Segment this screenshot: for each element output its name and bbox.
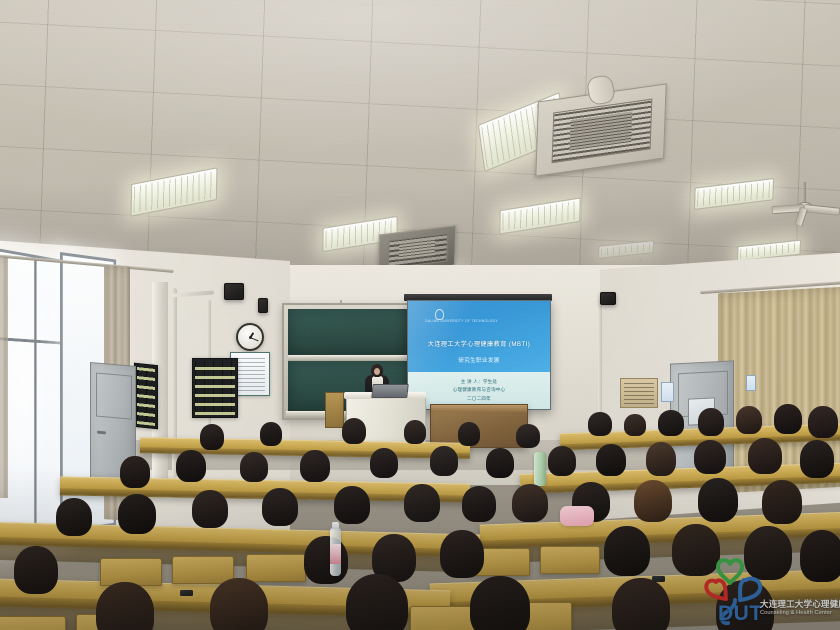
student-hair [672,524,720,576]
student [176,450,206,482]
student-hair [774,404,802,434]
student-hair [744,526,792,580]
wall-speaker-left [224,283,244,300]
podium-laptop [371,384,408,398]
slide-title-line-2: 研究生职业发展 [419,357,538,366]
student [672,524,720,576]
student-hair [694,440,726,474]
student-hair [458,422,480,446]
slide-logo-text: DALIAN UNIVERSITY OF TECHNOLOGY [425,319,451,323]
student-hair [304,536,348,584]
student [694,440,726,474]
student-hair [404,420,426,444]
student [334,486,370,524]
student [596,444,626,476]
slide-meta-line-1: 主 讲 人：学生处 [434,378,525,386]
student [404,420,426,444]
presenter-face [374,368,380,375]
student [304,536,348,584]
student-hair [762,480,802,524]
student-hair [96,582,154,630]
student-hair [56,498,92,536]
student [430,446,458,476]
wall-sign-blue [661,382,674,402]
student-hair [440,530,484,578]
student-hair [548,446,576,476]
seat-back [540,546,600,574]
student [440,530,484,578]
student-hair [624,414,646,436]
student [200,424,224,450]
student-hair [612,578,670,630]
student-hair [516,424,540,448]
student [512,484,548,522]
student-hair [646,442,676,476]
wall-speaker-small [258,298,268,313]
seating-area [0,400,840,630]
student-hair [176,450,206,482]
student [14,546,58,594]
student [516,424,540,448]
clock-center-pin [249,336,252,339]
projection-screen: DALIAN UNIVERSITY OF TECHNOLOGY 大连理工大学心理… [407,300,551,410]
fan-blade [804,204,840,216]
student [744,526,792,580]
student [404,484,440,522]
student-hair [262,488,298,526]
student [260,422,282,446]
student-hair [800,440,834,478]
student [240,452,268,482]
wall-clock [236,323,264,351]
seat-back [0,616,66,630]
thermos-flask [534,452,546,486]
fan-rod [803,182,806,204]
student-hair [808,406,838,438]
student [548,446,576,476]
bottle-label [330,544,341,564]
slide-meta-line-2: 心理健康教育与咨询中心 [434,386,525,394]
student-hair [240,452,268,482]
student-hair [14,546,58,594]
student-hair [346,574,408,630]
student-hair [334,486,370,524]
student-hair [200,424,224,450]
student [800,440,834,478]
student [486,448,514,478]
student-foreground [612,578,670,630]
student [262,488,298,526]
pink-bag [560,506,594,526]
student-hair [486,448,514,478]
student-hair [698,478,738,522]
student [192,490,228,528]
ceiling-fan [768,182,840,222]
student [658,410,684,436]
phone-on-desk [180,590,193,596]
student-hair [736,406,762,434]
student-hair [634,480,672,522]
student-hair [342,418,366,444]
student-hair [596,444,626,476]
student-hair [210,578,268,630]
student [342,418,366,444]
student-foreground [210,578,268,630]
student-hair [588,412,612,436]
student [698,478,738,522]
student [808,406,838,438]
student-hair [430,446,458,476]
student [762,480,802,524]
student [120,456,150,488]
student-hair [604,526,650,576]
student-hair [512,484,548,522]
student-foreground [346,574,408,630]
student [748,438,782,474]
water-bottle [330,528,341,576]
student-hair [470,576,530,630]
student-hair [658,410,684,436]
student-hair [120,456,150,488]
student-hair [192,490,228,528]
student-foreground [470,576,530,630]
student-hair [118,494,156,534]
student [604,526,650,576]
student [588,412,612,436]
student-hair [698,408,724,436]
student-foreground [96,582,154,630]
student-hair [748,438,782,474]
student [698,408,724,436]
student [458,422,480,446]
student [56,498,92,536]
student-hair [800,530,840,582]
slide-university-logo: DALIAN UNIVERSITY OF TECHNOLOGY [425,309,451,325]
slide-title-line-1: 大连理工大学心理健康教育 (MBTI) [417,340,542,350]
student [774,404,802,434]
student [624,414,646,436]
student-foreground [716,580,774,630]
lecture-hall-photo: DALIAN UNIVERSITY OF TECHNOLOGY 大连理工大学心理… [0,0,840,630]
student [736,406,762,434]
notice-board-text [235,358,265,391]
student [370,448,398,478]
student-hair [404,484,440,522]
student [634,480,672,522]
student-hair [370,448,398,478]
student [646,442,676,476]
student-hair [462,486,496,522]
student [118,494,156,534]
bottle-cap [332,522,338,529]
student [800,530,840,582]
wall-speaker-right [600,292,616,305]
student-hair [716,580,774,630]
student-hair [260,422,282,446]
wall-sign-small [746,375,756,391]
blackboard-panel-upper [288,309,410,355]
student [300,450,330,482]
student [462,486,496,522]
student-hair [300,450,330,482]
